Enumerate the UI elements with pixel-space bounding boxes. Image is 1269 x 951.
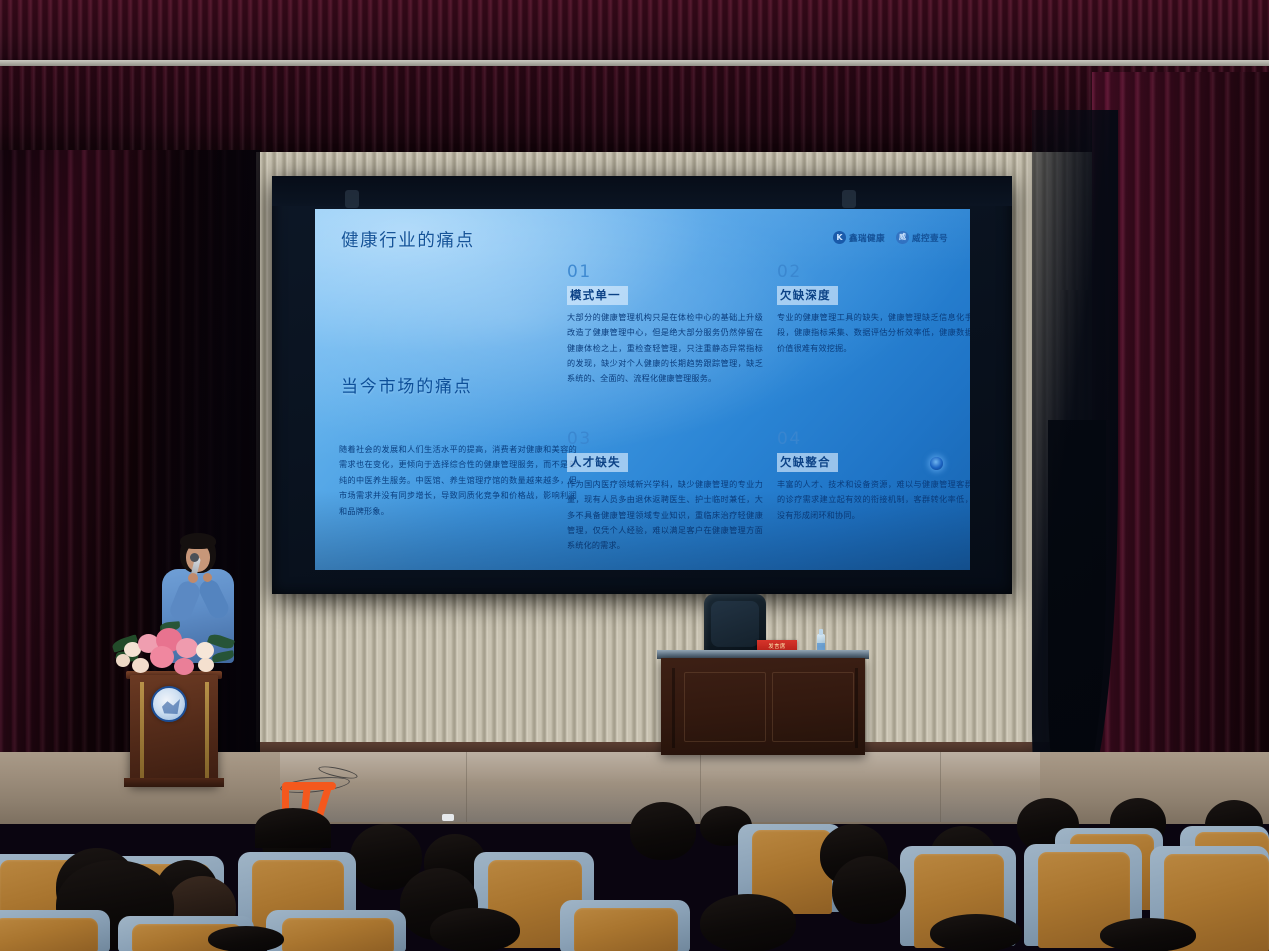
auditorium-photo: 健康行业的痛点 K 鑫瑞健康 威 威控壹号 当今市场的痛点 随着社会的发展和人们… xyxy=(0,0,1269,951)
presenter-bangs xyxy=(180,533,216,549)
hair-clip xyxy=(442,814,454,821)
head-table-panel-left xyxy=(684,672,766,742)
flower-arrangement xyxy=(112,620,236,684)
company-logo-name-2: 威控壹号 xyxy=(912,232,948,244)
screen-mount-left xyxy=(345,190,359,208)
head-table-groove-right xyxy=(855,668,858,748)
podium-base xyxy=(124,778,224,787)
audience-head xyxy=(255,808,331,848)
presenter-hand-left xyxy=(188,573,198,583)
audience-area xyxy=(0,790,1269,951)
slide-intro-paragraph: 随着社会的发展和人们生活水平的提高，消费者对健康和美容的需求也在变化，更倾向于选… xyxy=(339,442,577,519)
block-body-03: 作为国内医疗领域新兴学科，缺少健康管理的专业力量，现有人员多由退休返聘医生、护士… xyxy=(567,477,763,553)
slide-subtitle: 当今市场的痛点 xyxy=(341,372,473,397)
block-number-01: 01 xyxy=(567,264,763,281)
screen-top-bezel xyxy=(272,176,1012,206)
block-heading-04: 欠缺整合 xyxy=(777,453,838,472)
audience-head xyxy=(832,856,906,924)
block-number-03: 03 xyxy=(567,431,763,448)
audience-head xyxy=(700,894,796,951)
pain-point-block-04: 04 欠缺整合 丰富的人才、技术和设备资源，难以与健康管理客群的诊疗需求建立起有… xyxy=(777,431,970,523)
logo-unit-2: 威 威控壹号 xyxy=(896,231,948,244)
audience-head xyxy=(930,914,1022,951)
podium-gold-stripe-right xyxy=(205,682,209,780)
brand-logo-row: K 鑫瑞健康 威 威控壹号 xyxy=(833,231,948,244)
block-body-01: 大部分的健康管理机构只是在体检中心的基础上升级改造了健康管理中心，但是绝大部分服… xyxy=(567,310,763,386)
block-heading-02: 欠缺深度 xyxy=(777,286,838,305)
head-table-groove-left xyxy=(672,668,675,748)
right-stage-curtain xyxy=(1092,72,1269,812)
block-number-02: 02 xyxy=(777,264,970,281)
logo-unit-1: K 鑫瑞健康 xyxy=(833,231,885,244)
company-logo-name-1: 鑫瑞健康 xyxy=(849,232,885,244)
block-heading-01: 模式单一 xyxy=(567,286,628,305)
audience-head xyxy=(430,908,520,951)
block-body-04: 丰富的人才、技术和设备资源，难以与健康管理客群的诊疗需求建立起有效的衔接机制，客… xyxy=(777,477,970,523)
audience-seat[interactable] xyxy=(0,918,98,951)
block-body-02: 专业的健康管理工具的缺失，健康管理缺乏信息化手段，健康指标采集、数据评估分析效率… xyxy=(777,310,970,356)
laser-pointer-dot-icon xyxy=(930,457,943,470)
company-logo-mark-icon: K xyxy=(833,231,846,244)
podium-gold-stripe-left xyxy=(140,682,144,780)
executive-chair-cushion xyxy=(711,601,759,647)
audience-head xyxy=(630,802,696,860)
audience-seat[interactable] xyxy=(282,918,394,951)
microphone-head-icon xyxy=(190,553,199,562)
podium-institution-crest xyxy=(151,686,187,722)
audience-seat[interactable] xyxy=(574,908,678,951)
presenter-hand-right xyxy=(203,573,212,582)
pain-point-block-02: 02 欠缺深度 专业的健康管理工具的缺失，健康管理缺乏信息化手段，健康指标采集、… xyxy=(777,264,970,356)
pain-point-block-03: 03 人才缺失 作为国内医疗领域新兴学科，缺少健康管理的专业力量，现有人员多由退… xyxy=(567,431,763,553)
water-bottle-label xyxy=(817,643,825,650)
audience-head xyxy=(208,926,284,951)
presentation-slide[interactable]: 健康行业的痛点 K 鑫瑞健康 威 威控壹号 当今市场的痛点 随着社会的发展和人们… xyxy=(315,209,970,570)
audience-head xyxy=(1100,918,1196,951)
block-number-04: 04 xyxy=(777,431,970,448)
pain-point-block-01: 01 模式单一 大部分的健康管理机构只是在体检中心的基础上升级改造了健康管理中心… xyxy=(567,264,763,386)
block-heading-03: 人才缺失 xyxy=(567,453,628,472)
head-table-panel-right xyxy=(772,672,854,742)
slide-title: 健康行业的痛点 xyxy=(341,227,475,252)
screen-mount-right xyxy=(842,190,856,208)
partner-logo-mark-icon: 威 xyxy=(896,231,909,244)
